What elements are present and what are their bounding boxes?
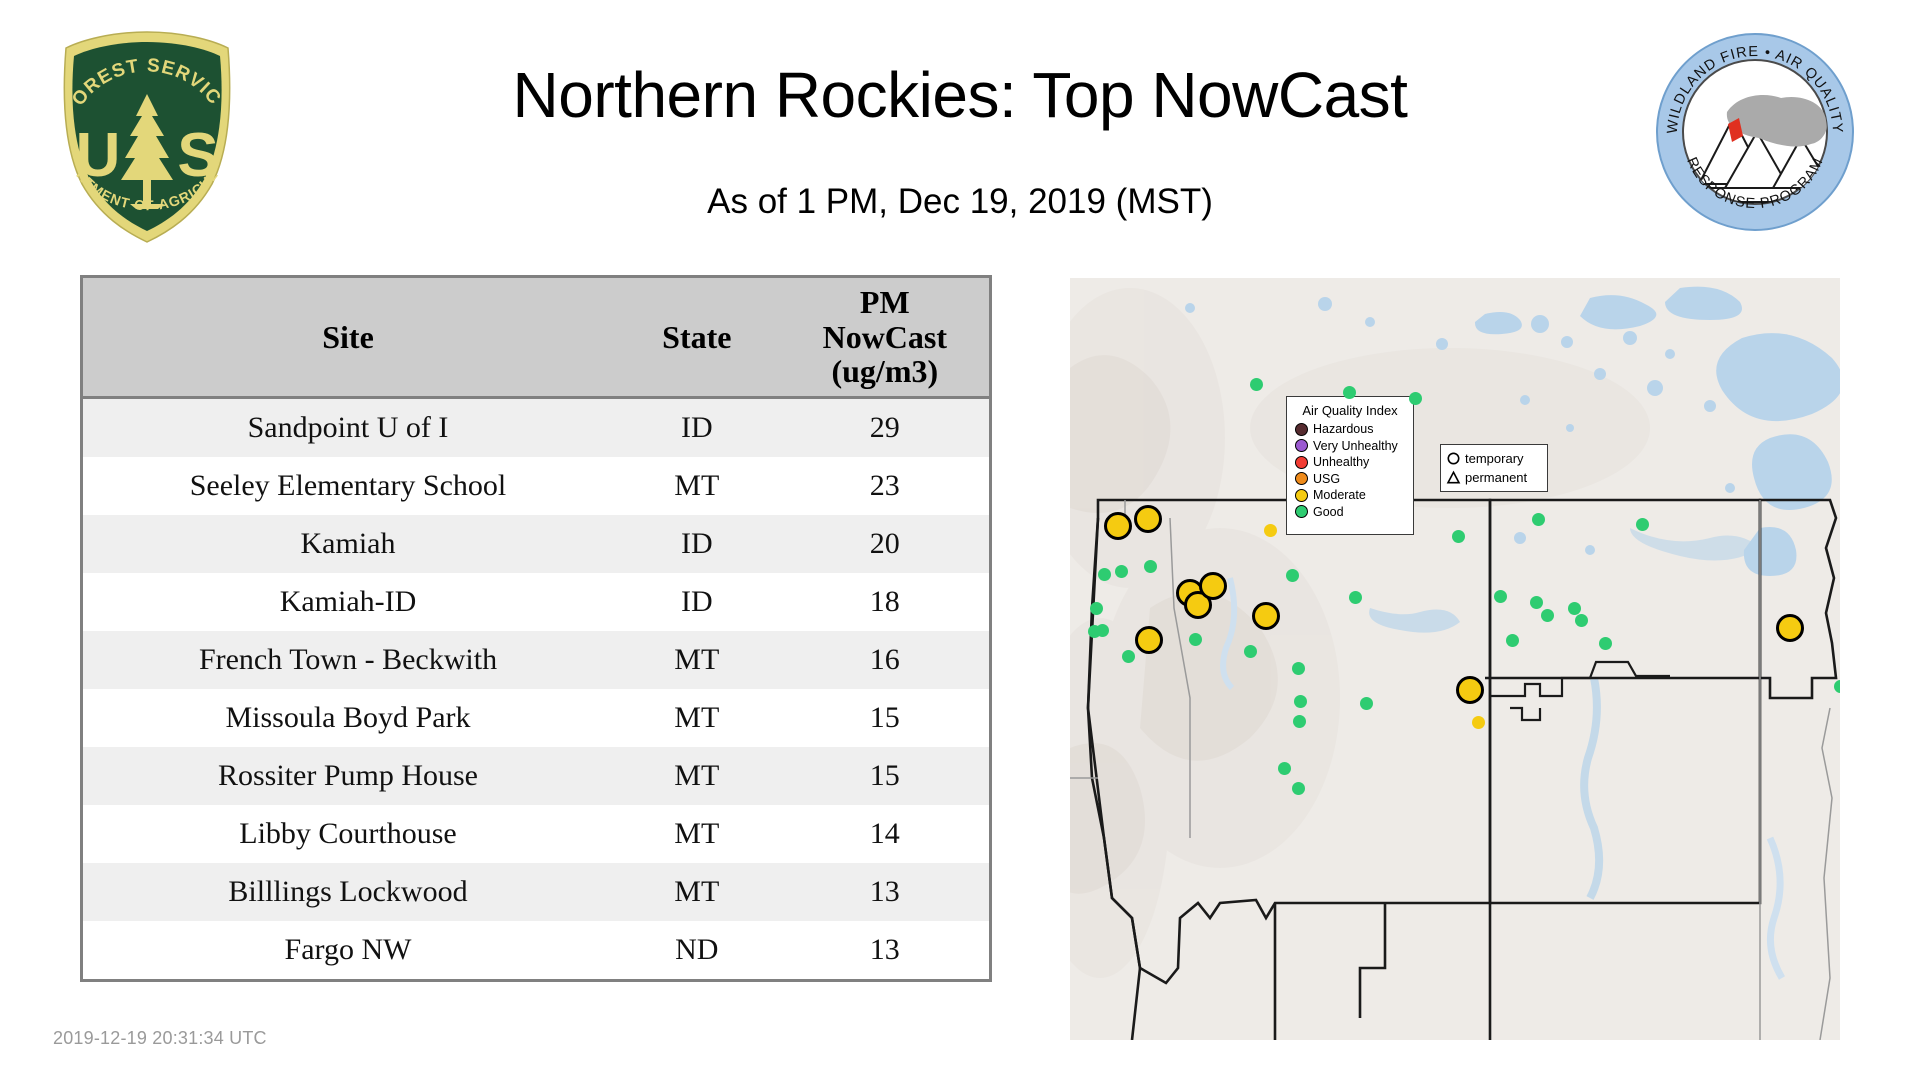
page-title: Northern Rockies: Top NowCast <box>280 58 1640 132</box>
monitor-marker-small[interactable] <box>1293 715 1306 728</box>
state-cell: ID <box>613 398 781 458</box>
triangle-outline-icon <box>1446 470 1461 485</box>
site-cell: Kamiah <box>83 515 613 573</box>
site-cell: French Town - Beckwith <box>83 631 613 689</box>
aqi-legend-item: Unhealthy <box>1295 454 1405 471</box>
aqi-legend-swatch-icon <box>1295 489 1308 502</box>
table-row: French Town - BeckwithMT16 <box>83 631 989 689</box>
monitor-marker-large[interactable] <box>1199 572 1227 600</box>
state-cell: MT <box>613 863 781 921</box>
aqi-legend-item: Hazardous <box>1295 421 1405 438</box>
monitor-marker-small[interactable] <box>1292 782 1305 795</box>
pm-nowcast-cell: 23 <box>781 457 989 515</box>
site-type-legend: temporary permanent <box>1440 444 1548 492</box>
monitor-marker-small[interactable] <box>1115 565 1128 578</box>
table-row: KamiahID20 <box>83 515 989 573</box>
state-cell: MT <box>613 747 781 805</box>
monitor-marker-small[interactable] <box>1278 762 1291 775</box>
aqi-legend-swatch-icon <box>1295 423 1308 436</box>
monitor-marker-large[interactable] <box>1456 676 1484 704</box>
aqi-legend-item: USG <box>1295 471 1405 488</box>
state-cell: MT <box>613 631 781 689</box>
monitor-marker-small[interactable] <box>1532 513 1545 526</box>
table-row: Sandpoint U of IID29 <box>83 398 989 458</box>
monitor-marker-small[interactable] <box>1599 637 1612 650</box>
pm-nowcast-cell: 29 <box>781 398 989 458</box>
wfaqrp-seal-icon: WILDLAND FIRE • AIR QUALITY RESPONSE PRO… <box>1655 32 1855 232</box>
monitor-marker-small[interactable] <box>1250 378 1263 391</box>
state-cell: MT <box>613 689 781 747</box>
monitor-marker-small[interactable] <box>1575 614 1588 627</box>
monitor-marker-small[interactable] <box>1098 568 1111 581</box>
monitor-marker-small[interactable] <box>1286 569 1299 582</box>
column-header-state-label: State <box>662 319 731 355</box>
site-cell: Sandpoint U of I <box>83 398 613 458</box>
top-nowcast-table-container: Site State PM NowCast (ug/m3) Sandpoint … <box>80 275 992 982</box>
monitor-marker-large[interactable] <box>1135 626 1163 654</box>
monitor-marker-large[interactable] <box>1104 512 1132 540</box>
monitor-marker-small[interactable] <box>1292 662 1305 675</box>
monitor-marker-large[interactable] <box>1134 505 1162 533</box>
monitor-marker-small[interactable] <box>1452 530 1465 543</box>
monitor-marker-small[interactable] <box>1530 596 1543 609</box>
monitor-marker-small[interactable] <box>1144 560 1157 573</box>
table-header-row: Site State PM NowCast (ug/m3) <box>83 278 989 398</box>
aqi-legend-label: Hazardous <box>1313 423 1373 436</box>
monitor-marker-small[interactable] <box>1472 716 1485 729</box>
aqi-legend-swatch-icon <box>1295 472 1308 485</box>
site-cell: Missoula Boyd Park <box>83 689 613 747</box>
state-cell: ID <box>613 573 781 631</box>
monitor-marker-small[interactable] <box>1636 518 1649 531</box>
wfaqrp-logo: WILDLAND FIRE • AIR QUALITY RESPONSE PRO… <box>1655 32 1855 232</box>
monitor-marker-small[interactable] <box>1088 625 1101 638</box>
column-header-pm-line1: PM <box>781 285 989 320</box>
column-header-pm-nowcast: PM NowCast (ug/m3) <box>781 278 989 398</box>
column-header-state: State <box>613 278 781 398</box>
column-header-pm-line2: NowCast <box>781 320 989 355</box>
forest-service-logo: FOREST SERVICE U S DEPARTMENT OF AGRICUL… <box>52 28 242 246</box>
monitor-marker-small[interactable] <box>1122 650 1135 663</box>
column-header-pm-line3: (ug/m3) <box>781 354 989 389</box>
top-nowcast-table: Site State PM NowCast (ug/m3) Sandpoint … <box>83 278 989 979</box>
column-header-site: Site <box>83 278 613 398</box>
aqi-legend-swatch-icon <box>1295 439 1308 452</box>
aqi-legend-label: Unhealthy <box>1313 456 1369 469</box>
aqi-legend-item: Moderate <box>1295 487 1405 504</box>
monitor-marker-large[interactable] <box>1252 602 1280 630</box>
monitor-marker-small[interactable] <box>1189 633 1202 646</box>
monitor-marker-small[interactable] <box>1834 680 1841 693</box>
aqi-legend-label: Moderate <box>1313 489 1366 502</box>
site-type-temporary: temporary <box>1446 449 1542 468</box>
monitor-marker-small[interactable] <box>1349 591 1362 604</box>
state-cell: ND <box>613 921 781 979</box>
pm-nowcast-cell: 20 <box>781 515 989 573</box>
monitor-marker-small[interactable] <box>1506 634 1519 647</box>
monitor-marker-small[interactable] <box>1494 590 1507 603</box>
map-basemap <box>1070 278 1840 1040</box>
table-body: Sandpoint U of IID29Seeley Elementary Sc… <box>83 398 989 980</box>
pm-nowcast-cell: 13 <box>781 863 989 921</box>
table-row: Kamiah-IDID18 <box>83 573 989 631</box>
site-type-temporary-label: temporary <box>1465 452 1524 465</box>
monitor-marker-small[interactable] <box>1264 524 1277 537</box>
site-cell: Kamiah-ID <box>83 573 613 631</box>
pm-nowcast-cell: 14 <box>781 805 989 863</box>
pm-nowcast-cell: 18 <box>781 573 989 631</box>
table-row: Missoula Boyd ParkMT15 <box>83 689 989 747</box>
monitor-marker-large[interactable] <box>1776 614 1804 642</box>
aqi-legend-title: Air Quality Index <box>1295 403 1405 418</box>
aqi-legend: Air Quality Index HazardousVery Unhealth… <box>1286 396 1414 535</box>
site-type-permanent-label: permanent <box>1465 471 1527 484</box>
table-row: Libby CourthouseMT14 <box>83 805 989 863</box>
monitor-marker-small[interactable] <box>1568 602 1581 615</box>
site-type-permanent: permanent <box>1446 468 1542 487</box>
pm-nowcast-cell: 16 <box>781 631 989 689</box>
air-quality-monitor-map[interactable]: Air Quality Index HazardousVery Unhealth… <box>1070 278 1840 1040</box>
monitor-marker-small[interactable] <box>1360 697 1373 710</box>
site-cell: Seeley Elementary School <box>83 457 613 515</box>
table-row: Billlings LockwoodMT13 <box>83 863 989 921</box>
page-subtitle: As of 1 PM, Dec 19, 2019 (MST) <box>280 182 1640 222</box>
column-header-site-label: Site <box>322 319 374 355</box>
aqi-legend-item: Very Unhealthy <box>1295 438 1405 455</box>
state-cell: MT <box>613 457 781 515</box>
site-cell: Rossiter Pump House <box>83 747 613 805</box>
aqi-legend-swatch-icon <box>1295 456 1308 469</box>
monitor-marker-small[interactable] <box>1090 602 1103 615</box>
aqi-legend-items: HazardousVery UnhealthyUnhealthyUSGModer… <box>1295 421 1405 520</box>
aqi-legend-swatch-icon <box>1295 505 1308 518</box>
monitor-marker-small[interactable] <box>1343 386 1356 399</box>
generation-timestamp: 2019-12-19 20:31:34 UTC <box>53 1028 267 1049</box>
pm-nowcast-cell: 13 <box>781 921 989 979</box>
aqi-legend-label: USG <box>1313 473 1340 486</box>
aqi-legend-label: Very Unhealthy <box>1313 440 1398 453</box>
monitor-marker-small[interactable] <box>1294 695 1307 708</box>
pm-nowcast-cell: 15 <box>781 689 989 747</box>
site-cell: Fargo NW <box>83 921 613 979</box>
table-row: Seeley Elementary SchoolMT23 <box>83 457 989 515</box>
pm-nowcast-cell: 15 <box>781 747 989 805</box>
monitor-marker-small[interactable] <box>1409 392 1422 405</box>
aqi-legend-item: Good <box>1295 504 1405 521</box>
table-row: Fargo NWND13 <box>83 921 989 979</box>
monitor-marker-small[interactable] <box>1541 609 1554 622</box>
site-cell: Billlings Lockwood <box>83 863 613 921</box>
monitor-marker-small[interactable] <box>1244 645 1257 658</box>
state-cell: MT <box>613 805 781 863</box>
circle-outline-icon <box>1446 451 1461 466</box>
site-cell: Libby Courthouse <box>83 805 613 863</box>
state-cell: ID <box>613 515 781 573</box>
table-header: Site State PM NowCast (ug/m3) <box>83 278 989 398</box>
forest-service-shield-icon: FOREST SERVICE U S DEPARTMENT OF AGRICUL… <box>52 28 242 246</box>
table-row: Rossiter Pump HouseMT15 <box>83 747 989 805</box>
aqi-legend-label: Good <box>1313 506 1344 519</box>
